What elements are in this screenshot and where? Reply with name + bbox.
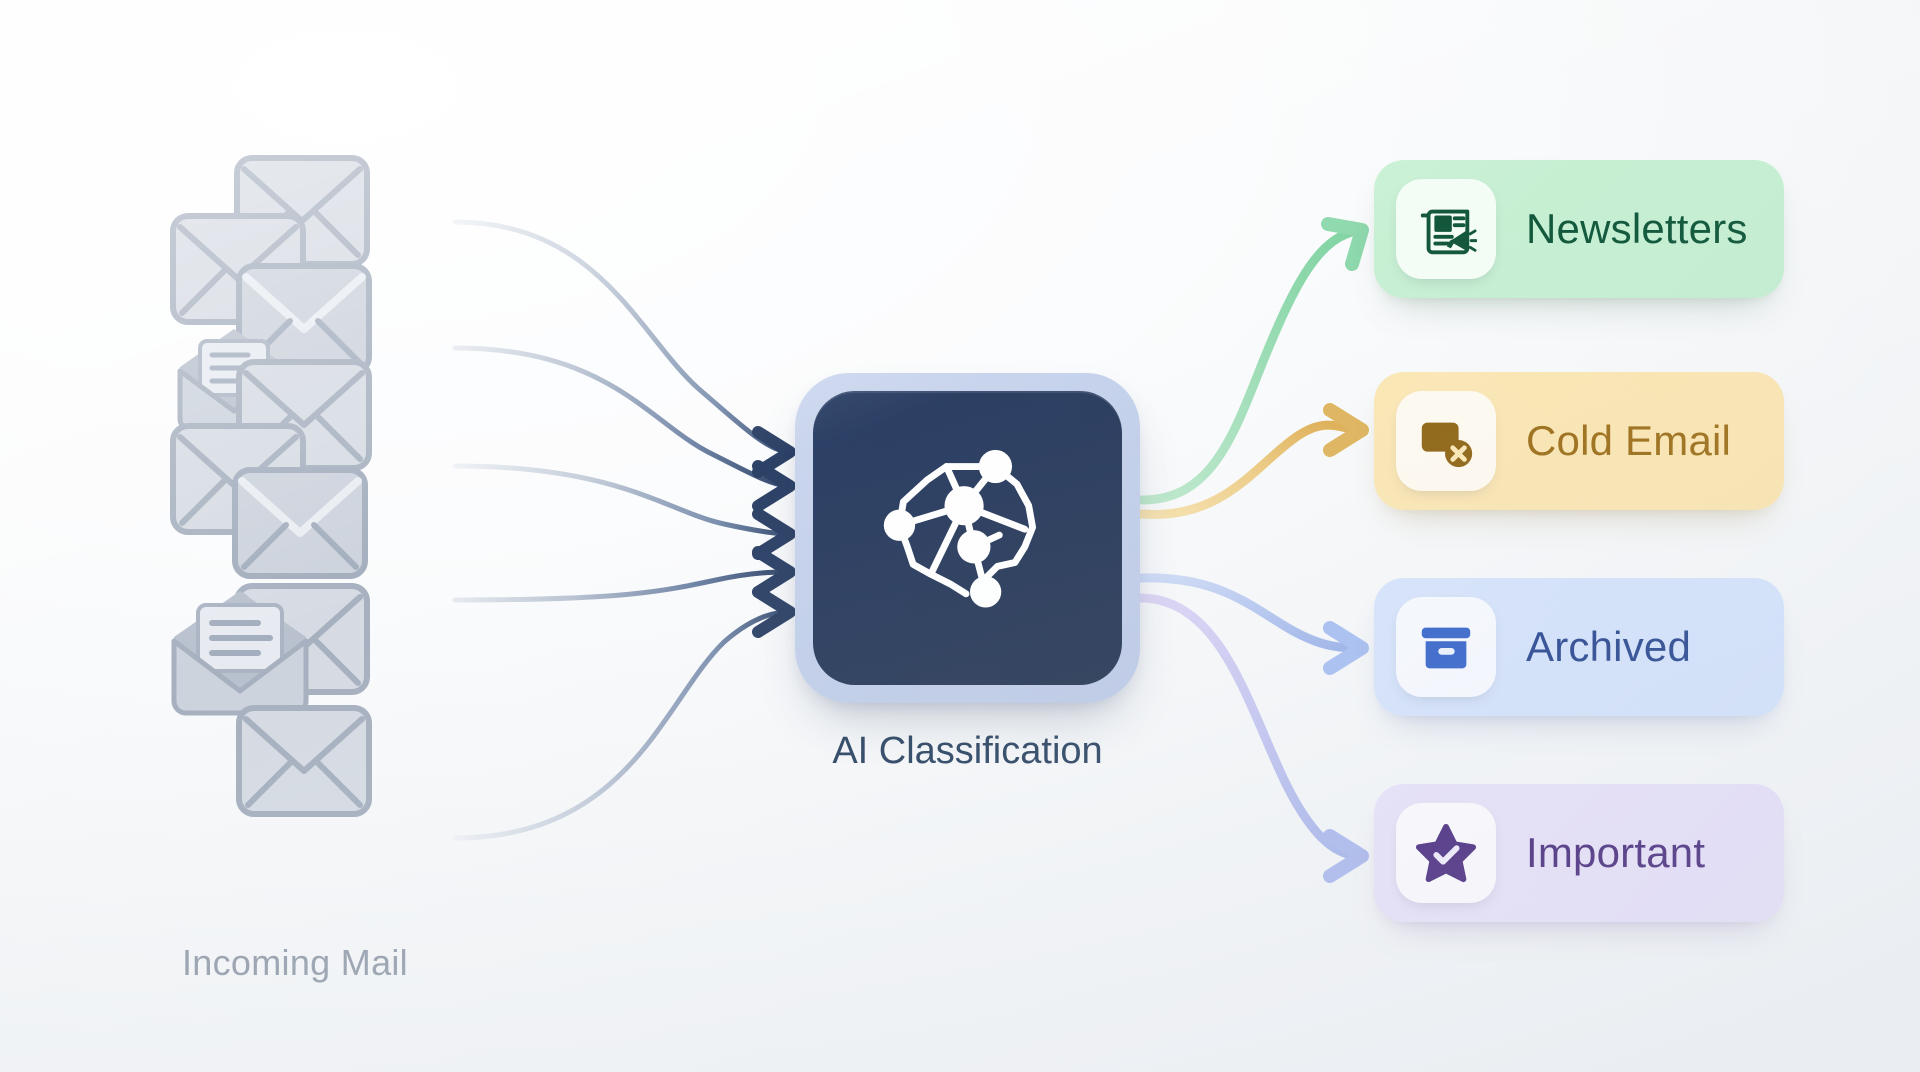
important-icon-tile [1396,803,1496,903]
output-arrow-important [1142,598,1362,856]
ai-classification-node[interactable] [795,373,1140,703]
category-card-important[interactable]: Important [1374,784,1784,922]
incoming-mail-cluster [170,155,470,915]
category-label-cold-email: Cold Email [1526,417,1731,465]
category-card-cold-email[interactable]: Cold Email [1374,372,1784,510]
ai-classification-label: AI Classification [795,730,1140,773]
brain-node [944,486,983,525]
category-label-newsletters: Newsletters [1526,205,1748,253]
envelope-open-icon [166,583,314,719]
envelope-icon [232,467,368,579]
incoming-mail-label: Incoming Mail [182,942,408,984]
brain-node [969,576,1000,607]
category-label-important: Important [1526,829,1705,877]
output-arrow-cold-email [1142,425,1362,514]
brain-node [883,510,914,541]
newsletters-icon-tile [1396,179,1496,279]
category-label-archived: Archived [1526,623,1691,671]
archived-icon-tile [1396,597,1496,697]
brain-node [978,450,1011,483]
output-arrow-newsletters [1142,230,1360,500]
cold-email-icon-tile [1396,391,1496,491]
envelope-icon [236,705,372,817]
diagram-canvas: Incoming Mail [0,0,1920,1072]
megaphone-shape [1447,230,1467,251]
newspaper-megaphone-icon [1415,198,1477,260]
category-card-newsletters[interactable]: Newsletters [1374,160,1784,298]
category-card-archived[interactable]: Archived [1374,578,1784,716]
star-check-icon [1415,822,1477,884]
ai-node-body [813,391,1122,685]
mail-x-circle-icon [1415,410,1477,472]
brain-node [957,530,990,563]
brain-network-icon [870,445,1066,631]
archive-box-icon [1415,616,1477,678]
output-arrow-archived [1142,578,1362,648]
